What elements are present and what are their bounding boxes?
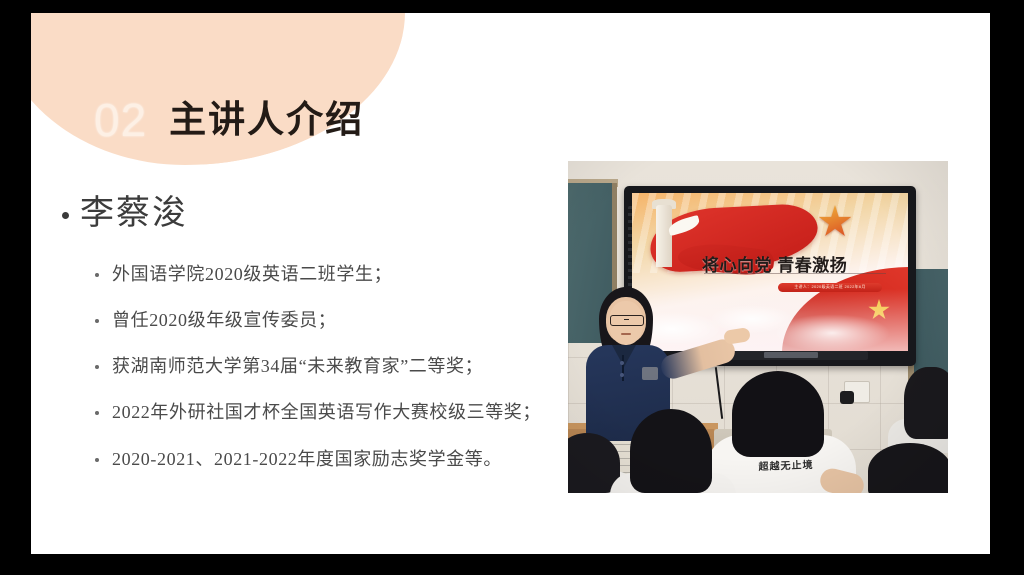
teacher-placket [622,355,624,381]
credential-text: 曾任2020级年级宣传委员； [112,308,336,332]
display-brand-logo [764,352,818,358]
screen-monument [656,205,672,267]
teacher-button [620,361,624,365]
bullet-dot-icon [95,319,99,323]
screen-clouds [632,289,908,351]
list-item: 2020-2021、2021-2022年度国家励志奖学金等。 [95,447,572,471]
student-hair [732,371,824,457]
section-header: 02 主讲人介绍 [94,97,364,143]
credential-text: 外国语学院2020级英语二班学生； [112,262,392,286]
student-hair [868,443,948,493]
student-hair [904,367,948,439]
credentials-list: 外国语学院2020级英语二班学生； 曾任2020级年级宣传委员； 获湖南师范大学… [62,262,572,471]
student-hair [630,409,712,493]
screen-divider [704,273,886,274]
uniform-text: 超越无止境 [746,456,826,474]
page-title: 主讲人介绍 [169,102,364,139]
lead-bullet-item: 李蔡浚 [62,193,572,236]
list-item: 获湖南师范大学第34届“未来教育家”二等奖； [95,354,572,378]
bullet-dot-icon [95,365,99,369]
content-column: 李蔡浚 外国语学院2020级英语二班学生； 曾任2020级年级宣传委员； 获湖南… [62,193,572,493]
list-item: 曾任2020级年级宣传委员； [95,308,572,332]
bullet-dot-icon [95,411,99,415]
bullet-dot-icon [62,212,69,219]
classroom-photo: 将心向党 青春激扬 主讲人：2020级英语二班 2022年6月 [568,161,948,493]
slide-stage: 02 主讲人介绍 李蔡浚 外国语学院2020级英语二班学生； 曾任2020级年级… [0,0,1024,575]
display-screen: 将心向党 青春激扬 主讲人：2020级英语二班 2022年6月 [632,193,908,351]
credential-text: 2022年外研社国才杯全国英语写作大赛校级三等奖； [112,400,541,424]
glasses-icon [610,315,644,326]
teacher-mouth [621,333,631,335]
credential-text: 获湖南师范大学第34届“未来教育家”二等奖； [112,354,483,378]
teacher-button [620,373,624,377]
slide-canvas: 02 主讲人介绍 李蔡浚 外国语学院2020级英语二班学生； 曾任2020级年级… [31,13,990,554]
speaker-name: 李蔡浚 [80,193,188,236]
bullet-dot-icon [95,273,99,277]
section-number: 02 [94,97,147,143]
teacher-shirt-logo [642,367,658,380]
list-item: 2022年外研社国才杯全国英语写作大赛校级三等奖； [95,400,572,424]
list-item: 外国语学院2020级英语二班学生； [95,262,572,286]
screen-banner-text: 主讲人：2020级英语二班 2022年6月 [782,284,878,290]
bullet-dot-icon [95,458,99,462]
credential-text: 2020-2021、2021-2022年度国家励志奖学金等。 [112,447,502,471]
